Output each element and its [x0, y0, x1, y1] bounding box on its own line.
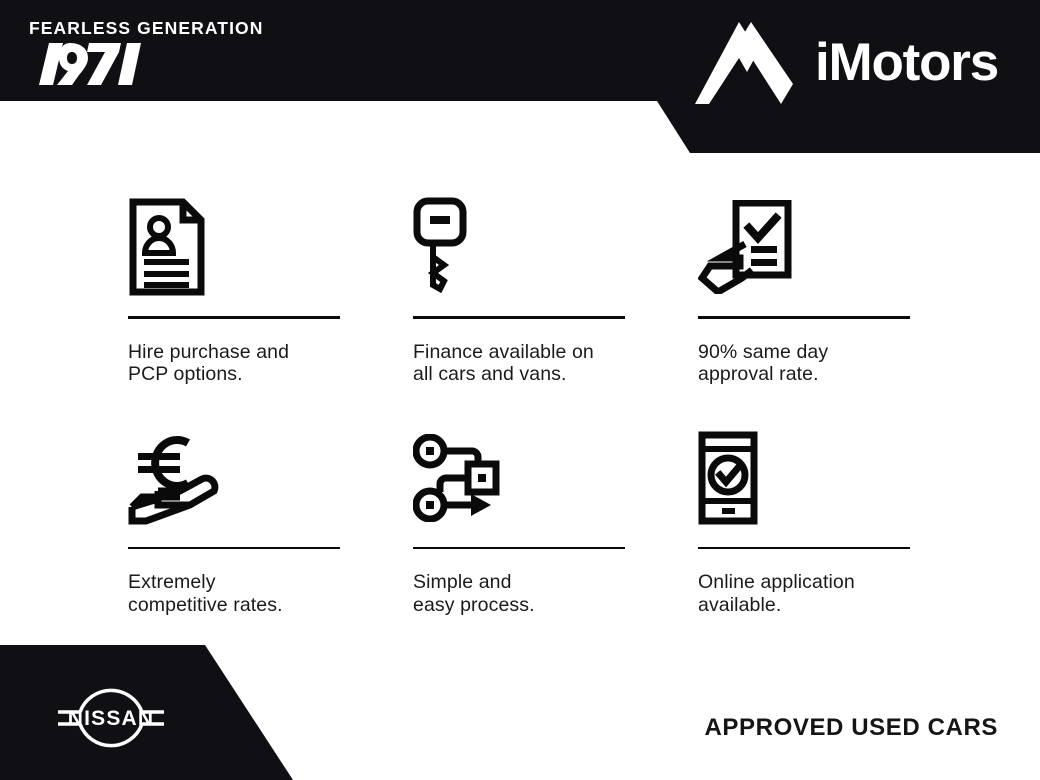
feature-icon-slot — [128, 188, 340, 306]
feature-caption: Online application available. — [698, 571, 910, 616]
car-key-icon — [413, 197, 467, 297]
feature-caption: Extremely competitive rates. — [128, 571, 340, 616]
imotors-logo-lockup: iMotors — [695, 22, 998, 104]
feature-divider — [698, 547, 910, 550]
feature-icon-slot — [128, 419, 340, 537]
hand-holding-checklist-icon — [698, 200, 796, 294]
imotors-chevron-mark-icon — [695, 22, 793, 104]
feature-card: Hire purchase and PCP options. — [128, 188, 340, 386]
feature-caption: Hire purchase and PCP options. — [128, 341, 340, 386]
feature-icon-slot — [413, 419, 625, 537]
feature-icon-slot — [698, 188, 910, 306]
feature-divider — [128, 316, 340, 319]
feature-divider — [413, 316, 625, 319]
euro-in-hand-icon — [128, 429, 224, 527]
feature-card: Finance available on all cars and vans. — [413, 188, 625, 386]
smartphone-check-icon — [698, 431, 758, 525]
feature-card: 90% same day approval rate. — [698, 188, 910, 386]
1971-slanted-logo-icon — [29, 43, 141, 85]
feature-divider — [128, 547, 340, 550]
approved-used-cars-tagline: APPROVED USED CARS — [704, 714, 998, 742]
feature-icon-slot — [413, 188, 625, 306]
process-flow-icon — [413, 434, 505, 522]
header-bar: FEARLESS GENERATION iMotors — [0, 0, 1040, 153]
features-grid: Hire purchase and PCP options. Finance a… — [128, 188, 910, 616]
feature-card: Extremely competitive rates. — [128, 419, 340, 617]
feature-divider — [413, 547, 625, 550]
nissan-logo-icon: NISSAN — [52, 668, 170, 760]
fearless-generation-block: FEARLESS GENERATION — [29, 18, 263, 90]
feature-card: Online application available. — [698, 419, 910, 617]
feature-card: Simple and easy process. — [413, 419, 625, 617]
document-person-icon — [128, 197, 206, 297]
marketing-banner: FEARLESS GENERATION iMotors — [0, 0, 1040, 780]
header-tagline: FEARLESS GENERATION — [29, 18, 263, 38]
feature-icon-slot — [698, 419, 910, 537]
imotors-wordmark: iMotors — [815, 35, 998, 91]
feature-divider — [698, 316, 910, 319]
feature-caption: Simple and easy process. — [413, 571, 625, 616]
feature-caption: Finance available on all cars and vans. — [413, 341, 625, 386]
feature-caption: 90% same day approval rate. — [698, 341, 910, 386]
nissan-wordmark: NISSAN — [68, 707, 155, 730]
